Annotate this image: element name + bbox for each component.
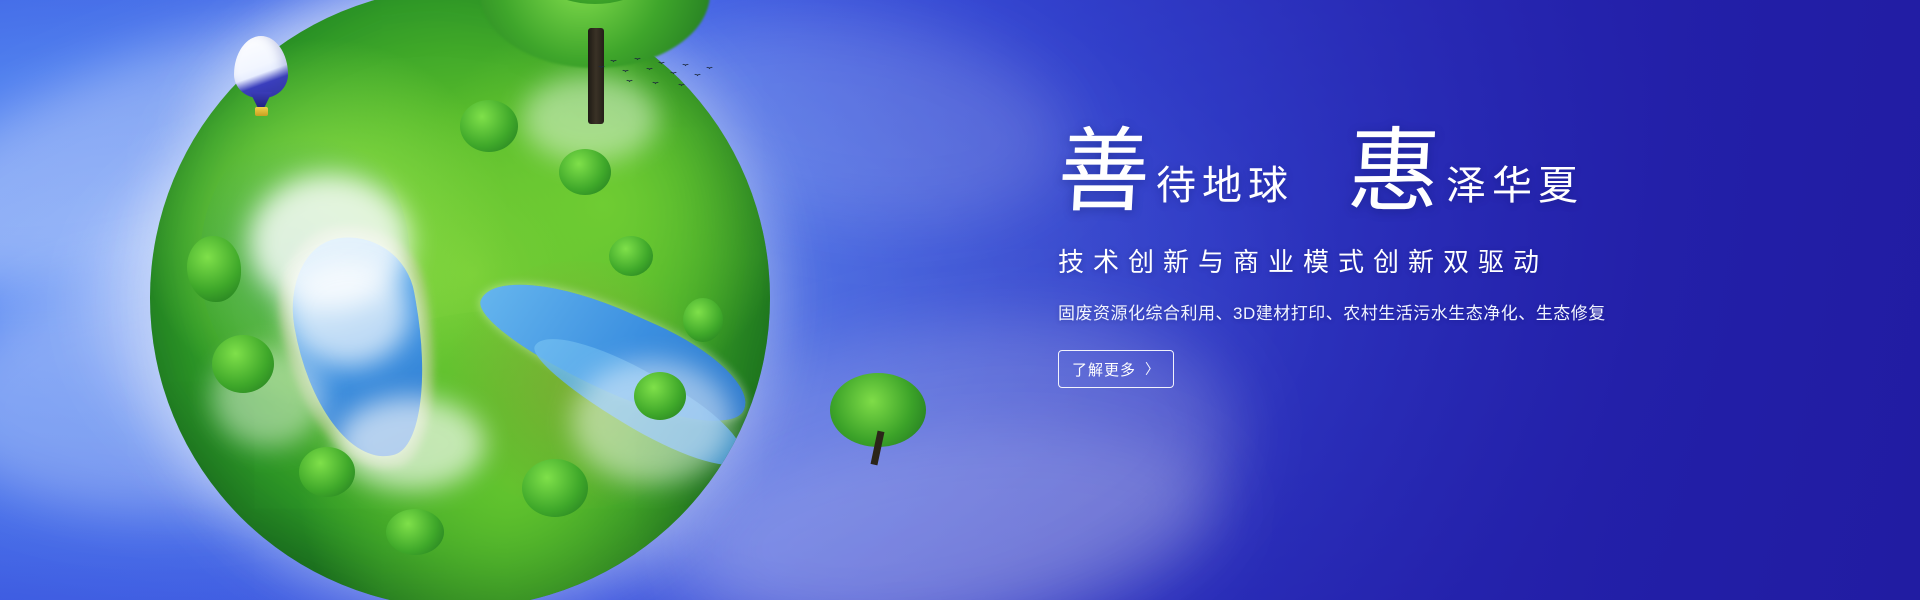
bird-icon xyxy=(646,68,653,72)
bird-icon xyxy=(598,66,605,70)
subtitle: 技术创新与商业模式创新双驱动 xyxy=(1058,242,1818,279)
tree-icon xyxy=(212,335,274,393)
bird-icon xyxy=(626,80,633,84)
tree-icon xyxy=(609,236,653,276)
balloon-skirt xyxy=(250,92,272,108)
hero-text-block: 善 待地球 惠 泽华夏 技术创新与商业模式创新双驱动 固废资源化综合利用、3D建… xyxy=(1058,128,1818,388)
headline: 善 待地球 惠 泽华夏 xyxy=(1058,128,1818,216)
bird-icon xyxy=(694,74,701,78)
bird-icon xyxy=(622,70,629,74)
cloud-icon xyxy=(286,261,410,366)
tree-icon xyxy=(634,372,686,420)
balloon-basket xyxy=(255,107,268,116)
bird-icon xyxy=(678,84,685,88)
bird-icon xyxy=(706,67,713,71)
cloud-icon xyxy=(336,397,485,490)
learn-more-label: 了解更多 xyxy=(1072,359,1136,380)
hero-banner: 善 待地球 惠 泽华夏 技术创新与商业模式创新双驱动 固废资源化综合利用、3D建… xyxy=(0,0,1920,600)
headline-small-text-2: 泽华夏 xyxy=(1446,166,1584,216)
headline-small-text-1: 待地球 xyxy=(1156,166,1294,216)
bird-icon xyxy=(610,60,617,64)
tree-icon xyxy=(830,373,926,463)
learn-more-button[interactable]: 了解更多 〉 xyxy=(1058,350,1174,388)
bird-flock-icon xyxy=(596,52,726,92)
hot-air-balloon-icon xyxy=(234,36,288,122)
headline-phrase-2: 惠 泽华夏 xyxy=(1348,128,1584,216)
balloon-envelope xyxy=(234,36,288,98)
description: 固废资源化综合利用、3D建材打印、农村生活污水生态净化、生态修复 xyxy=(1058,299,1818,324)
bird-icon xyxy=(658,62,665,66)
bird-icon xyxy=(652,82,659,86)
bird-icon xyxy=(682,64,689,68)
tree-icon xyxy=(683,298,723,342)
tree-icon xyxy=(187,236,241,302)
tree-icon xyxy=(522,459,588,517)
tree-icon xyxy=(299,447,355,497)
headline-phrase-1: 善 待地球 xyxy=(1058,128,1294,216)
headline-big-char-2: 惠 xyxy=(1346,128,1443,216)
chevron-right-icon: 〉 xyxy=(1145,359,1160,379)
bird-icon xyxy=(670,72,677,76)
tree-icon xyxy=(386,509,444,555)
headline-big-char-1: 善 xyxy=(1056,128,1153,216)
bird-icon xyxy=(634,58,641,62)
